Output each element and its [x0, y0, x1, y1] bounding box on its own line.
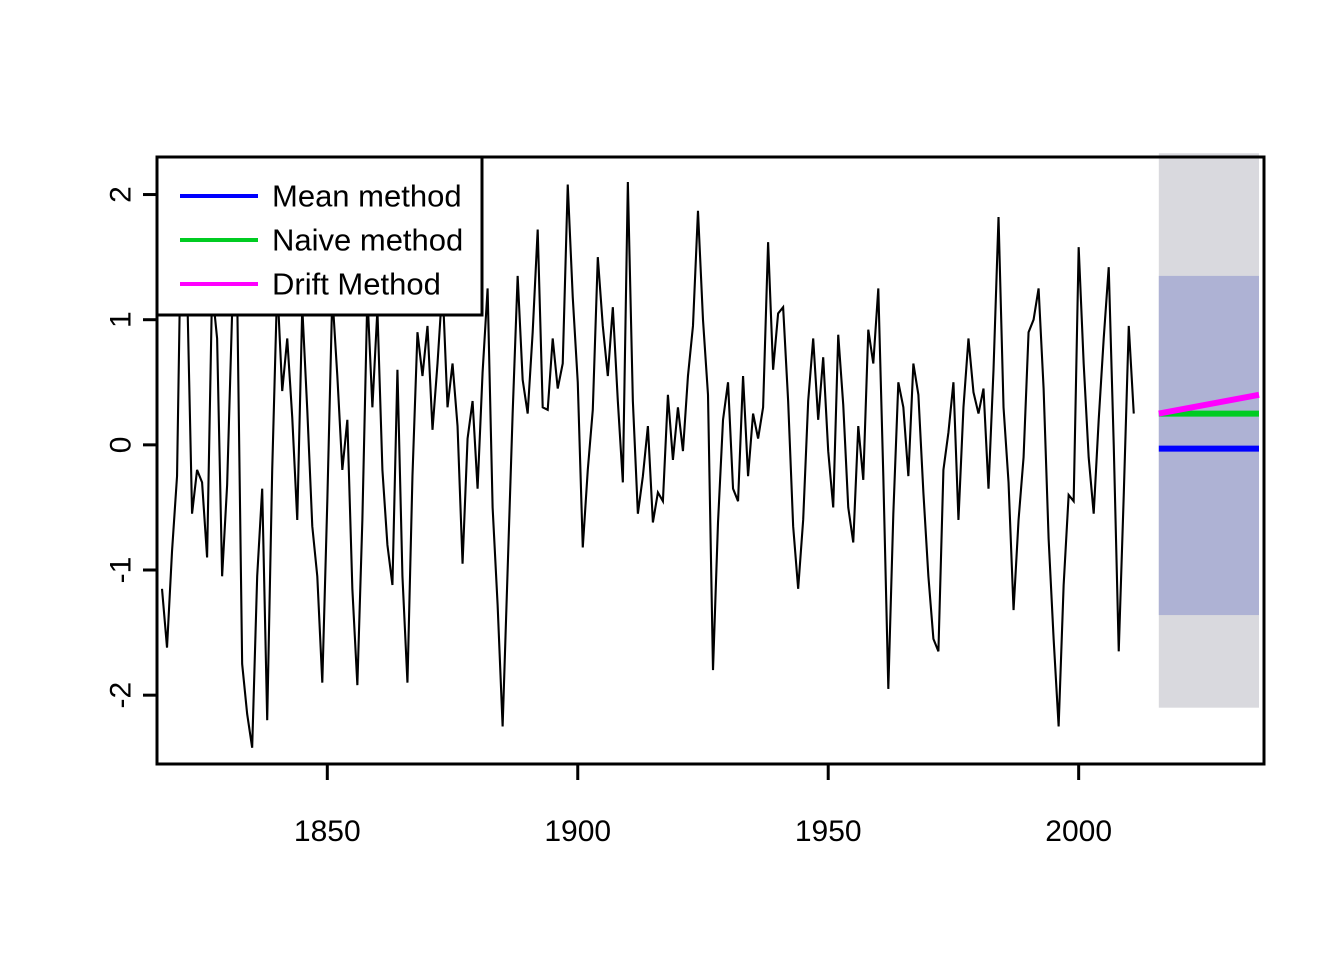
prediction-interval-80 — [1159, 276, 1259, 615]
x-tick-label: 1850 — [294, 815, 361, 848]
chart-canvas: -2-1012 1850190019502000 Mean methodNaiv… — [0, 0, 1344, 960]
y-tick-label: 2 — [105, 186, 138, 203]
legend-label-mean-method: Mean method — [272, 179, 462, 214]
legend-items: Mean methodNaive methodDrift Method — [180, 179, 463, 302]
y-tick-label: 0 — [105, 437, 138, 454]
forecast-plot: -2-1012 1850190019502000 Mean methodNaiv… — [0, 0, 1344, 960]
y-tick-label: 1 — [105, 311, 138, 328]
legend-label-drift-method: Drift Method — [272, 267, 441, 302]
x-tick-label: 1950 — [795, 815, 862, 848]
y-tick-label: -2 — [105, 682, 138, 709]
prediction-interval-bands — [1159, 153, 1259, 707]
y-tick-label: -1 — [105, 557, 138, 584]
legend-label-naive-method: Naive method — [272, 223, 463, 258]
x-tick-label: 2000 — [1045, 815, 1112, 848]
chart-legend: Mean methodNaive methodDrift Method — [157, 157, 482, 315]
x-tick-label: 1900 — [544, 815, 611, 848]
